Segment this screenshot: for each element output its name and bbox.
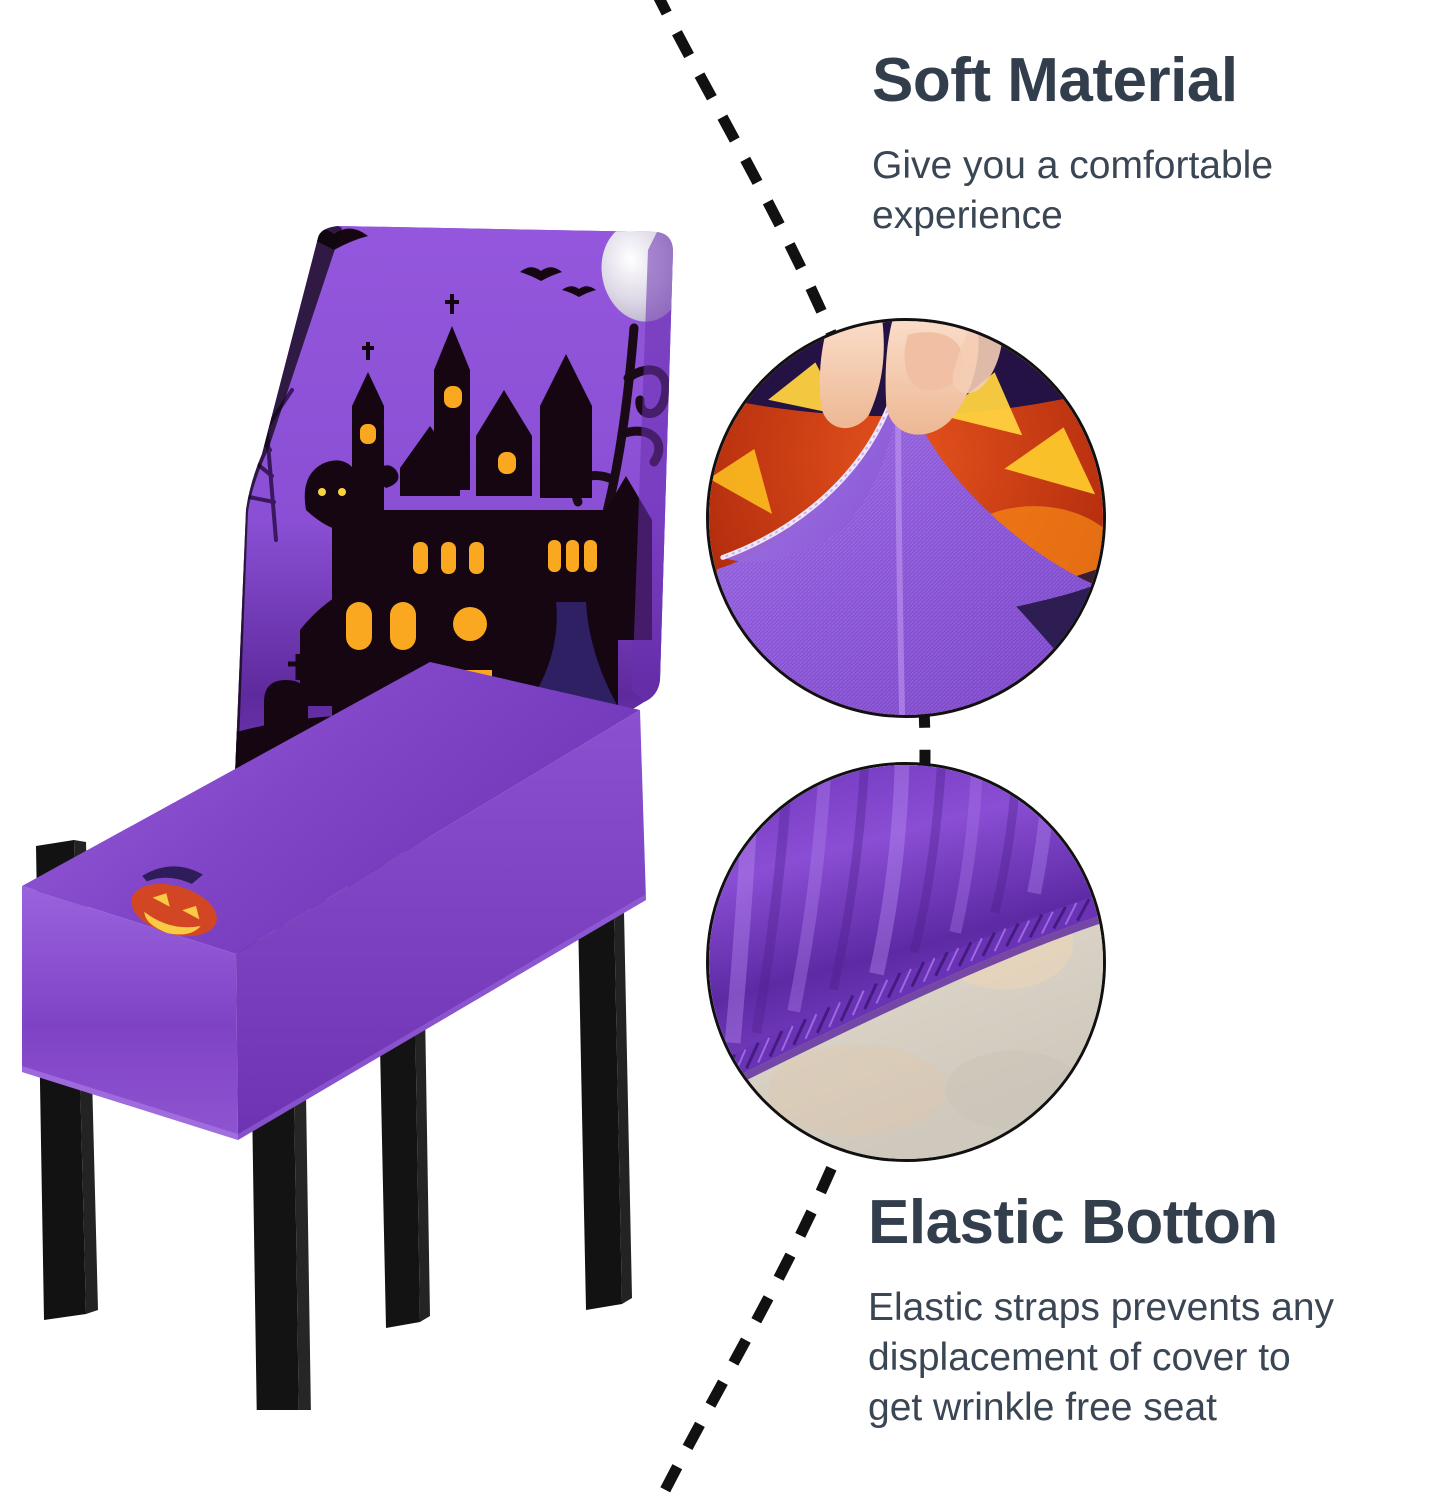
soft-material-headline: Soft Material (872, 48, 1402, 113)
elastic-bottom-headline: Elastic Botton (868, 1190, 1428, 1255)
product-feature-graphic: HALLOWEEN (0, 0, 1442, 1500)
elastic-bottom-description: Elastic straps prevents any displacement… (868, 1283, 1438, 1433)
fabric-pinch-photo (709, 321, 1103, 715)
feature-soft-material-text: Soft Material Give you a comfortable exp… (872, 48, 1402, 241)
feature-elastic-bottom-text: Elastic Botton Elastic straps prevents a… (868, 1190, 1428, 1433)
chair-illustration: HALLOWEEN (0, 210, 730, 1410)
elastic-hem-photo (709, 765, 1103, 1159)
product-chair-image: HALLOWEEN (0, 210, 730, 1410)
detail-circle-elastic-bottom (706, 762, 1106, 1162)
soft-material-description: Give you a comfortable experience (872, 141, 1382, 241)
detail-circle-soft-material (706, 318, 1106, 718)
